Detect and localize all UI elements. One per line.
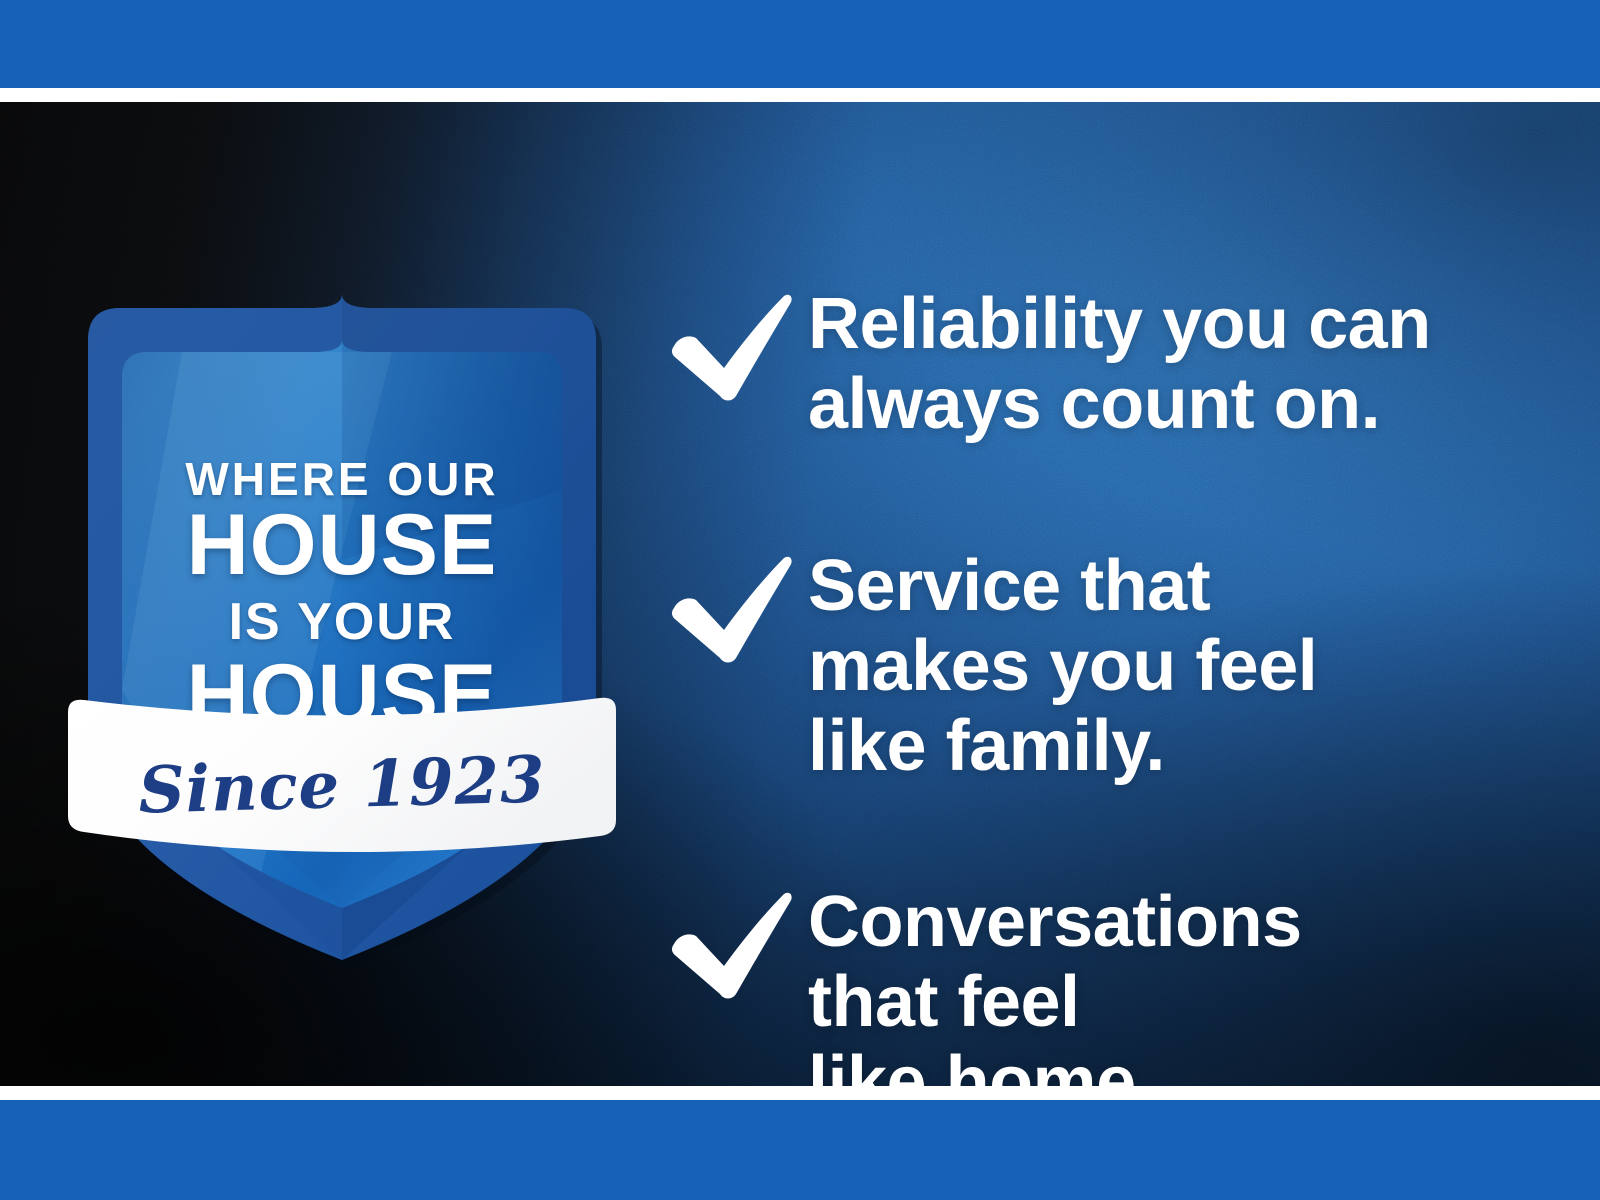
shield-badge: Where Our House Is Your House Since 1923 bbox=[62, 260, 622, 960]
checkmark-icon bbox=[668, 882, 808, 998]
list-item: Reliability you can always count on. bbox=[668, 284, 1568, 444]
checkmark-icon bbox=[668, 546, 808, 662]
top-divider-rule bbox=[0, 88, 1600, 102]
main-stage: Where Our House Is Your House Since 1923… bbox=[0, 102, 1600, 1086]
benefits-list: Reliability you can always count on. Ser… bbox=[668, 262, 1568, 1086]
list-item: Conversations that feel like home. bbox=[668, 882, 1568, 1086]
checkmark-icon bbox=[668, 284, 808, 400]
list-item: Service that makes you feel like family. bbox=[668, 546, 1568, 786]
promotional-banner: Where Our House Is Your House Since 1923… bbox=[0, 0, 1600, 1200]
list-item-label: Conversations that feel like home. bbox=[808, 882, 1568, 1086]
brand-bar-bottom bbox=[0, 1100, 1600, 1200]
badge-since-text: Since 1923 bbox=[61, 746, 623, 826]
list-item-label: Service that makes you feel like family. bbox=[808, 546, 1568, 786]
bottom-divider-rule bbox=[0, 1086, 1600, 1100]
list-item-label: Reliability you can always count on. bbox=[808, 284, 1568, 444]
brand-bar-top bbox=[0, 0, 1600, 88]
since-ribbon bbox=[62, 260, 622, 960]
